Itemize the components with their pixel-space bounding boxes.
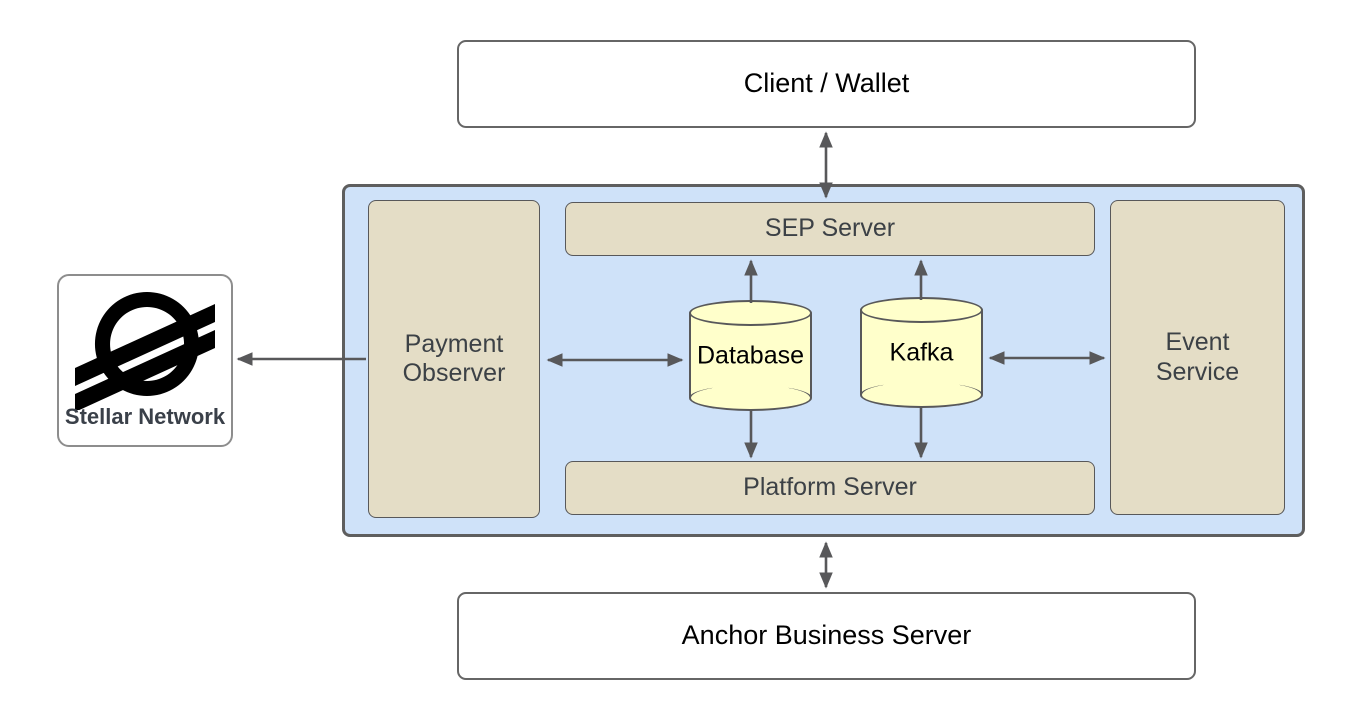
node-client-wallet[interactable]: Client / Wallet (457, 40, 1196, 128)
kafka-cylinder-top (860, 297, 983, 323)
node-platform-server-label: Platform Server (743, 473, 917, 503)
node-payment-observer-label: Payment Observer (394, 330, 514, 389)
database-cylinder-top (689, 300, 812, 326)
node-event-service-label: Event Service (1145, 328, 1250, 387)
datastore-kafka[interactable]: Kafka (860, 297, 983, 408)
node-platform-server[interactable]: Platform Server (565, 461, 1095, 515)
kafka-cylinder-bottom (860, 382, 983, 408)
node-stellar-network[interactable]: Stellar Network (57, 274, 233, 447)
datastore-kafka-label: Kafka (842, 338, 1001, 367)
datastore-database-label: Database (671, 341, 830, 370)
node-anchor-business-server[interactable]: Anchor Business Server (457, 592, 1196, 680)
node-anchor-business-server-label: Anchor Business Server (682, 620, 972, 652)
node-event-service[interactable]: Event Service (1110, 200, 1285, 515)
diagram-canvas: Client / Wallet Stellar Network Payment … (0, 0, 1345, 724)
node-sep-server-label: SEP Server (765, 214, 895, 244)
node-client-wallet-label: Client / Wallet (744, 68, 910, 100)
stellar-logo-icon (69, 284, 225, 410)
node-payment-observer[interactable]: Payment Observer (368, 200, 540, 518)
datastore-database[interactable]: Database (689, 300, 812, 411)
database-cylinder-bottom (689, 385, 812, 411)
node-sep-server[interactable]: SEP Server (565, 202, 1095, 256)
node-stellar-network-label: Stellar Network (51, 404, 239, 430)
